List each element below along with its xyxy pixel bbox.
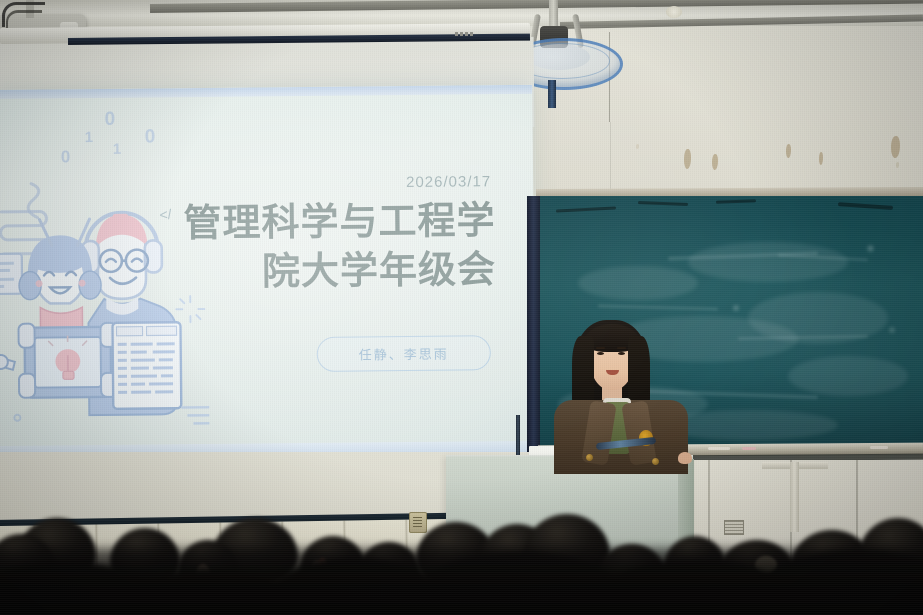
ceiling-lamp bbox=[666, 6, 682, 18]
lecture-hall-photo: 0 1 0 1 0 2026/03/17 </ 管理科学与工程学 院大学年级会 … bbox=[0, 0, 923, 615]
projected-slide: 0 1 0 1 0 2026/03/17 </ 管理科学与工程学 院大学年级会 … bbox=[0, 85, 536, 460]
speaker-eyebrow-right bbox=[617, 347, 626, 349]
podium-microphone-stand bbox=[516, 415, 520, 457]
audience-foreground-mass bbox=[0, 548, 923, 615]
binary-digit-1b: 1 bbox=[113, 141, 122, 158]
binary-digit-0a: 0 bbox=[61, 147, 71, 167]
slide-presenters-pill: 任静、李思雨 bbox=[317, 335, 491, 372]
slide-date: 2026/03/17 bbox=[406, 173, 491, 191]
speaker-coat-button-2 bbox=[652, 458, 659, 465]
chalk-stick-2[interactable] bbox=[870, 446, 888, 449]
binary-digit-0b: 0 bbox=[104, 109, 115, 131]
speaker-hand bbox=[678, 452, 692, 464]
blackboard-left-frame bbox=[527, 196, 540, 464]
slide-title: 管理科学与工程学 院大学年级会 bbox=[165, 197, 496, 297]
chalk-stick-red[interactable] bbox=[742, 447, 756, 450]
speaker-person bbox=[556, 312, 688, 462]
screen-indicator-lights bbox=[455, 32, 475, 36]
binary-digit-0c: 0 bbox=[145, 126, 156, 148]
speaker-eye-right bbox=[618, 352, 625, 355]
chalk-stick[interactable] bbox=[708, 447, 730, 450]
speaker-eyebrow-left bbox=[596, 347, 605, 349]
speaker-coat-button-1 bbox=[586, 454, 593, 461]
slide-title-line-1: 管理科学与工程学 bbox=[165, 197, 495, 249]
fan-support-pole bbox=[548, 80, 556, 108]
binary-digit-1a: 1 bbox=[85, 129, 94, 146]
speaker-eye-left bbox=[597, 352, 604, 355]
slide-title-line-2: 院大学年级会 bbox=[166, 246, 496, 298]
